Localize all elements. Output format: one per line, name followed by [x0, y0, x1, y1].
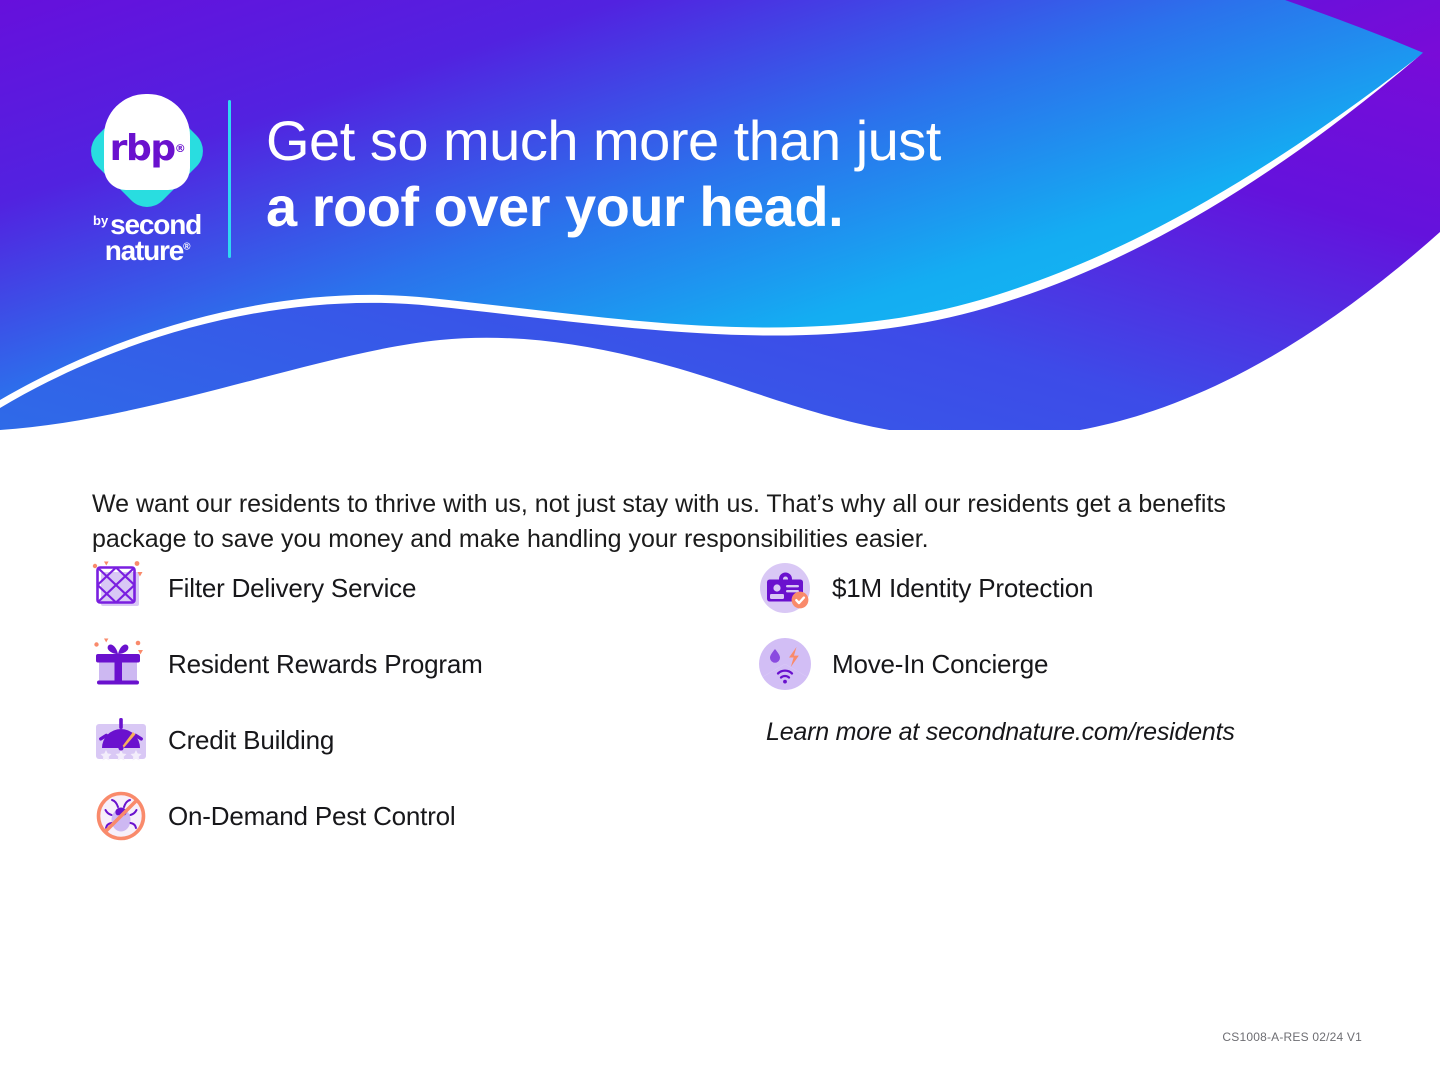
logo-divider [228, 100, 231, 258]
benefit-label: $1M Identity Protection [832, 573, 1093, 604]
rbp-logo: rbp® bysecond nature® [86, 96, 208, 256]
marketing-flyer: rbp® bysecond nature® Get so much more t… [0, 0, 1440, 1080]
utilities-icon [756, 635, 814, 693]
benefit-item-resident-rewards: Resident Rewards Program [92, 634, 732, 694]
benefits-column-right: $1M Identity Protection [756, 558, 1356, 747]
logo-byline: bysecond nature® [86, 212, 208, 264]
id-badge-icon [756, 559, 814, 617]
benefit-item-credit-building: Credit Building [92, 710, 732, 770]
benefit-label: Credit Building [168, 725, 334, 756]
headline-line-1: Get so much more than just [266, 108, 1266, 174]
benefit-label: Filter Delivery Service [168, 573, 416, 604]
benefit-item-pest-control: On-Demand Pest Control [92, 786, 732, 846]
page-title: Get so much more than just a roof over y… [266, 108, 1266, 240]
filter-icon [92, 559, 150, 617]
pest-control-icon [92, 787, 150, 845]
benefits-column-left: Filter Delivery Service [92, 558, 732, 862]
headline-line-2: a roof over your head. [266, 174, 1266, 240]
gift-icon [92, 635, 150, 693]
logo-company-registered-mark: ® [183, 241, 189, 252]
benefit-label: Move-In Concierge [832, 649, 1048, 680]
logo-company-line2: nature® [86, 238, 208, 264]
benefit-item-move-in-concierge: Move-In Concierge [756, 634, 1356, 694]
logo-wordmark-text: rbp [110, 128, 175, 169]
logo-by-label: by [93, 215, 108, 227]
logo-company-line2-text: nature [105, 235, 183, 266]
benefit-item-filter-delivery: Filter Delivery Service [92, 558, 732, 618]
intro-paragraph: We want our residents to thrive with us,… [92, 487, 1307, 556]
logo-registered-mark: ® [175, 142, 185, 155]
rbp-logo-mark: rbp® [92, 96, 202, 206]
benefit-label: Resident Rewards Program [168, 649, 483, 680]
credit-gauge-icon [92, 711, 150, 769]
logo-wordmark: rbp® [92, 96, 202, 200]
benefit-label: On-Demand Pest Control [168, 801, 456, 832]
document-code: CS1008-A-RES 02/24 V1 [1222, 1030, 1362, 1044]
learn-more-text[interactable]: Learn more at secondnature.com/residents [766, 718, 1356, 747]
benefit-item-identity-protection: $1M Identity Protection [756, 558, 1356, 618]
